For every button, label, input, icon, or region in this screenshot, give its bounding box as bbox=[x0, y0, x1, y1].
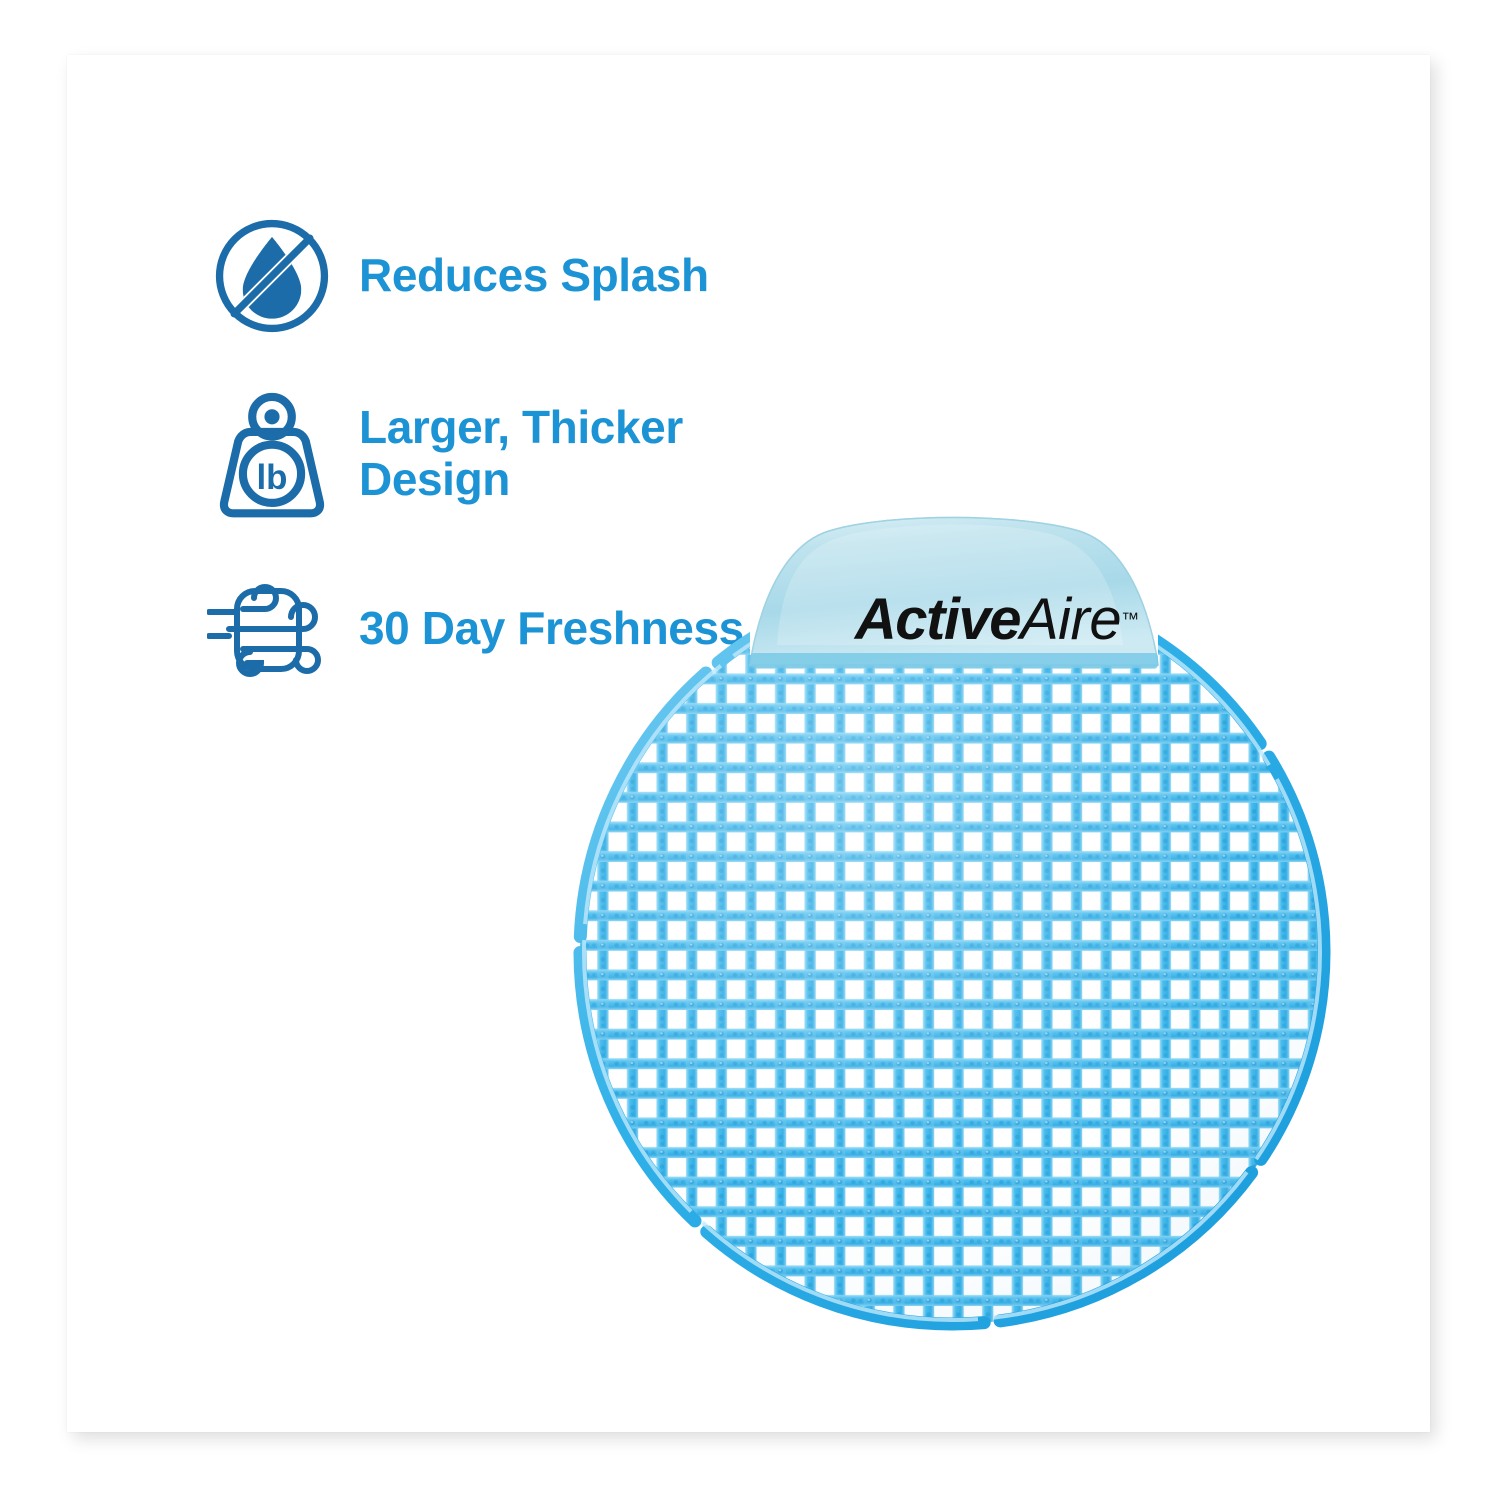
feature-label: Larger, Thicker Design bbox=[359, 402, 683, 505]
product-photo-urinal-screen: ActiveAire™ bbox=[567, 495, 1427, 1435]
svg-text:lb: lb bbox=[256, 458, 287, 497]
feature-label: Reduces Splash bbox=[359, 250, 709, 302]
product-card: Reduces Splash lb Larger, Thicker Design bbox=[67, 55, 1430, 1432]
weight-lb-icon: lb bbox=[207, 390, 337, 518]
feature-item-reduces-splash: Reduces Splash bbox=[207, 215, 709, 337]
no-splash-droplet-icon bbox=[207, 215, 337, 337]
product-image-canvas: Reduces Splash lb Larger, Thicker Design bbox=[0, 0, 1500, 1500]
wind-freshness-icon bbox=[207, 575, 337, 683]
